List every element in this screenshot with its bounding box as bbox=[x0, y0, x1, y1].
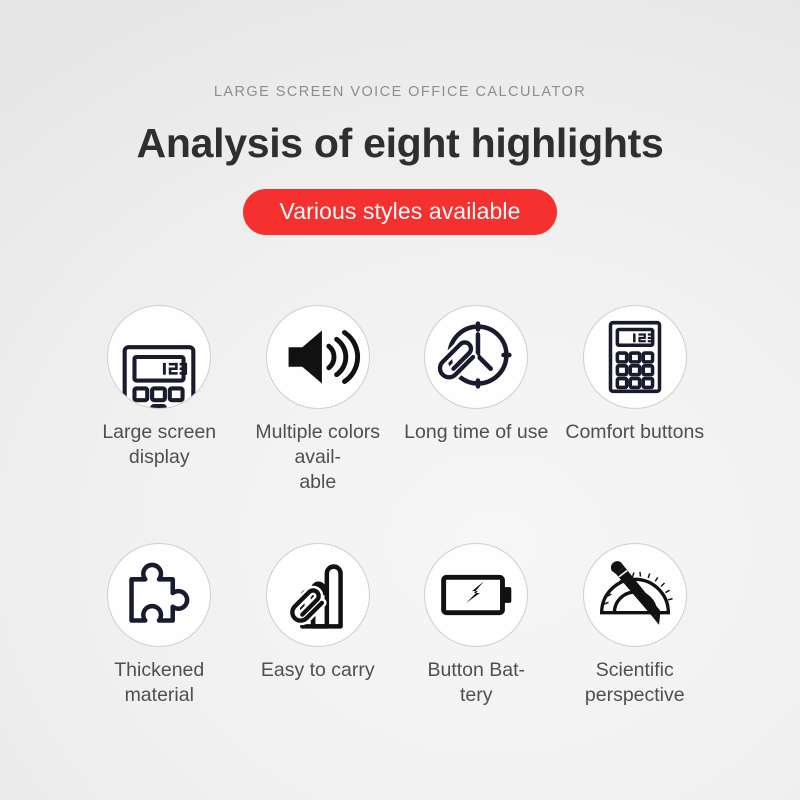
feature-icon-circle bbox=[107, 543, 211, 647]
feature-icon-circle bbox=[266, 543, 370, 647]
puzzle-piece-icon bbox=[108, 543, 210, 647]
feature-icon-circle bbox=[583, 543, 687, 647]
feature-grid: Large screen display Multiple colors ava… bbox=[80, 305, 714, 708]
feature-icon-circle bbox=[266, 305, 370, 409]
feature-caption: Large screen display bbox=[85, 420, 233, 470]
feature-caption: Long time of use bbox=[404, 420, 548, 445]
hand-paperclip-icon bbox=[267, 543, 369, 647]
badge-container: Various styles available bbox=[0, 189, 800, 235]
feature-item-large-screen-display[interactable]: Large screen display bbox=[80, 305, 239, 495]
status-badge: Various styles available bbox=[243, 189, 556, 235]
feature-icon-circle bbox=[583, 305, 687, 409]
feature-caption: Scientific perspective bbox=[561, 658, 709, 708]
battery-lightning-icon bbox=[425, 543, 527, 647]
page-header: LARGE SCREEN VOICE OFFICE CALCULATOR Ana… bbox=[0, 0, 800, 235]
feature-item-long-time-of-use[interactable]: Long time of use bbox=[397, 305, 556, 495]
feature-item-multiple-colors[interactable]: Multiple colors avail- able bbox=[239, 305, 398, 495]
pencil-icon bbox=[611, 561, 661, 625]
feature-caption: Button Bat- tery bbox=[427, 658, 525, 708]
page-title: Analysis of eight highlights bbox=[0, 118, 800, 168]
feature-caption: Comfort buttons bbox=[565, 420, 704, 445]
feature-caption: Thickened material bbox=[85, 658, 233, 708]
infographic-page: LARGE SCREEN VOICE OFFICE CALCULATOR Ana… bbox=[0, 0, 800, 800]
feature-caption: Easy to carry bbox=[261, 658, 375, 683]
calculator-keypad-icon bbox=[584, 305, 686, 409]
speaker-sound-waves-icon bbox=[267, 305, 369, 409]
feature-item-thickened-material[interactable]: Thickened material bbox=[80, 543, 239, 708]
eyebrow-subtitle: LARGE SCREEN VOICE OFFICE CALCULATOR bbox=[0, 82, 800, 102]
display-digits bbox=[163, 363, 187, 375]
large-screen-calculator-icon bbox=[108, 305, 210, 409]
feature-icon-circle bbox=[107, 305, 211, 409]
feature-caption: Multiple colors avail- able bbox=[244, 420, 392, 495]
feature-item-easy-to-carry[interactable]: Easy to carry bbox=[239, 543, 398, 708]
protractor-pencil-icon bbox=[584, 543, 686, 647]
feature-item-button-battery[interactable]: Button Bat- tery bbox=[397, 543, 556, 708]
display-digits bbox=[633, 333, 654, 342]
feature-icon-circle bbox=[424, 305, 528, 409]
clock-paperclip-icon bbox=[425, 305, 527, 409]
feature-item-comfort-buttons[interactable]: Comfort buttons bbox=[556, 305, 715, 495]
feature-icon-circle bbox=[424, 543, 528, 647]
feature-item-scientific-perspective[interactable]: Scientific perspective bbox=[556, 543, 715, 708]
